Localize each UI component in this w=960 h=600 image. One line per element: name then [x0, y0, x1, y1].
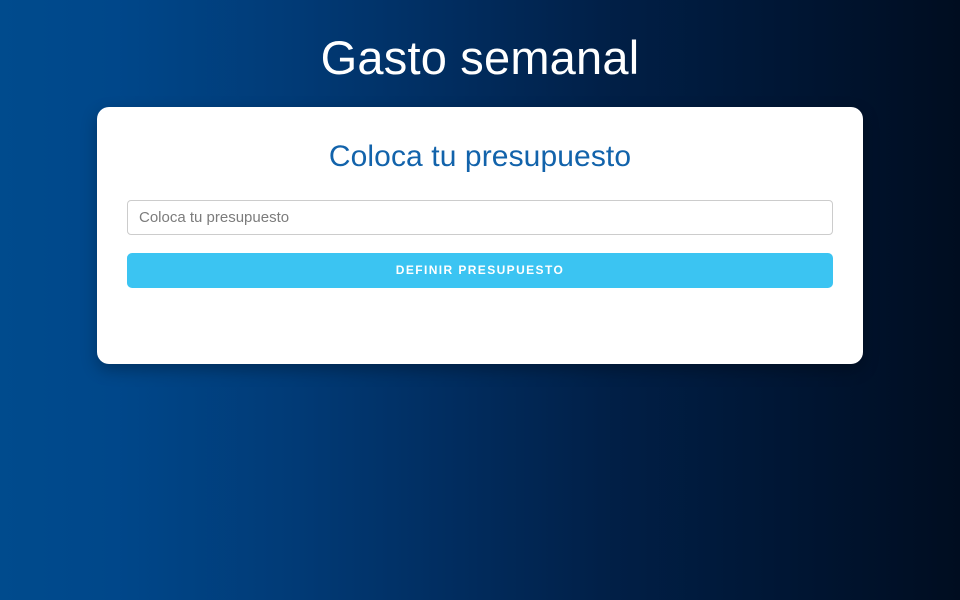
budget-field-row [127, 200, 833, 235]
budget-form: Definir presupuesto [127, 176, 833, 288]
budget-input[interactable] [127, 200, 833, 235]
page-title: Gasto semanal [0, 26, 960, 90]
definir-presupuesto-button[interactable]: Definir presupuesto [127, 253, 833, 288]
submit-row: Definir presupuesto [127, 235, 833, 288]
budget-card: Coloca tu presupuesto Definir presupuest… [97, 107, 863, 364]
card-heading: Coloca tu presupuesto [127, 107, 833, 176]
app-root: Gasto semanal Coloca tu presupuesto Defi… [0, 0, 960, 600]
